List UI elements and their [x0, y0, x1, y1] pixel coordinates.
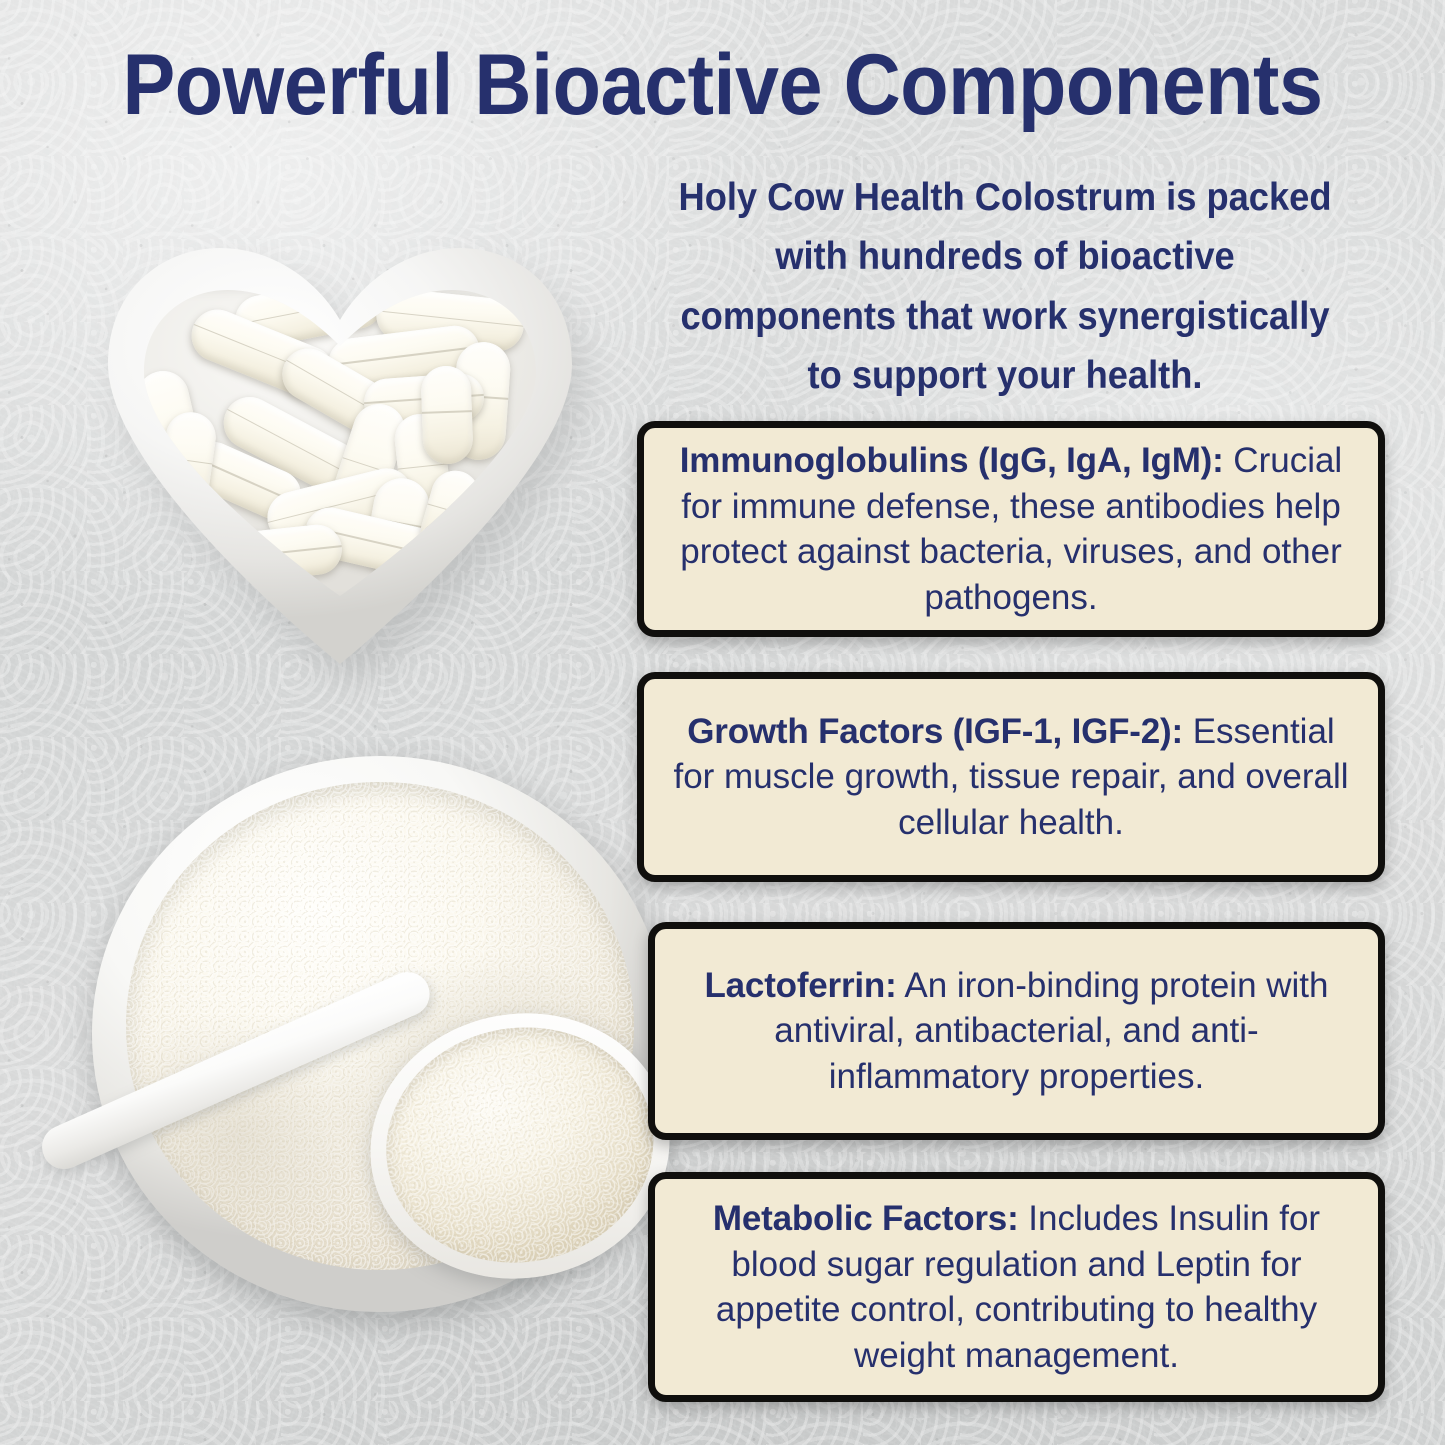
powder-bowl-photo [82, 742, 682, 1332]
fact-card-heading: Metabolic Factors: [713, 1199, 1019, 1238]
fact-card-text: Growth Factors (IGF-1, IGF-2): Essential… [666, 709, 1356, 846]
page-title: Powerful Bioactive Components [58, 42, 1387, 128]
fact-card-metabolic-factors[interactable]: Metabolic Factors: Includes Insulin for … [648, 1172, 1385, 1402]
fact-card-heading: Lactoferrin: [704, 966, 896, 1005]
fact-card-text: Lactoferrin: An iron-binding protein wit… [677, 963, 1356, 1100]
fact-card-text: Immunoglobulins (IgG, IgA, IgM): Crucial… [666, 438, 1356, 620]
scoop-powder [368, 1007, 673, 1284]
fact-card-lactoferrin[interactable]: Lactoferrin: An iron-binding protein wit… [648, 922, 1385, 1140]
intro-paragraph: Holy Cow Health Colostrum is packed with… [666, 168, 1345, 405]
fact-card-immunoglobulins[interactable]: Immunoglobulins (IgG, IgA, IgM): Crucial… [637, 421, 1385, 637]
fact-card-heading: Growth Factors (IGF-1, IGF-2): [687, 712, 1183, 751]
heart-dish-photo [78, 232, 628, 687]
infographic-canvas: Powerful Bioactive Components Holy Cow H… [0, 0, 1445, 1445]
fact-card-text: Metabolic Factors: Includes Insulin for … [677, 1196, 1356, 1378]
fact-card-heading: Immunoglobulins (IgG, IgA, IgM): [680, 441, 1224, 480]
fact-card-growth-factors[interactable]: Growth Factors (IGF-1, IGF-2): Essential… [637, 672, 1385, 882]
